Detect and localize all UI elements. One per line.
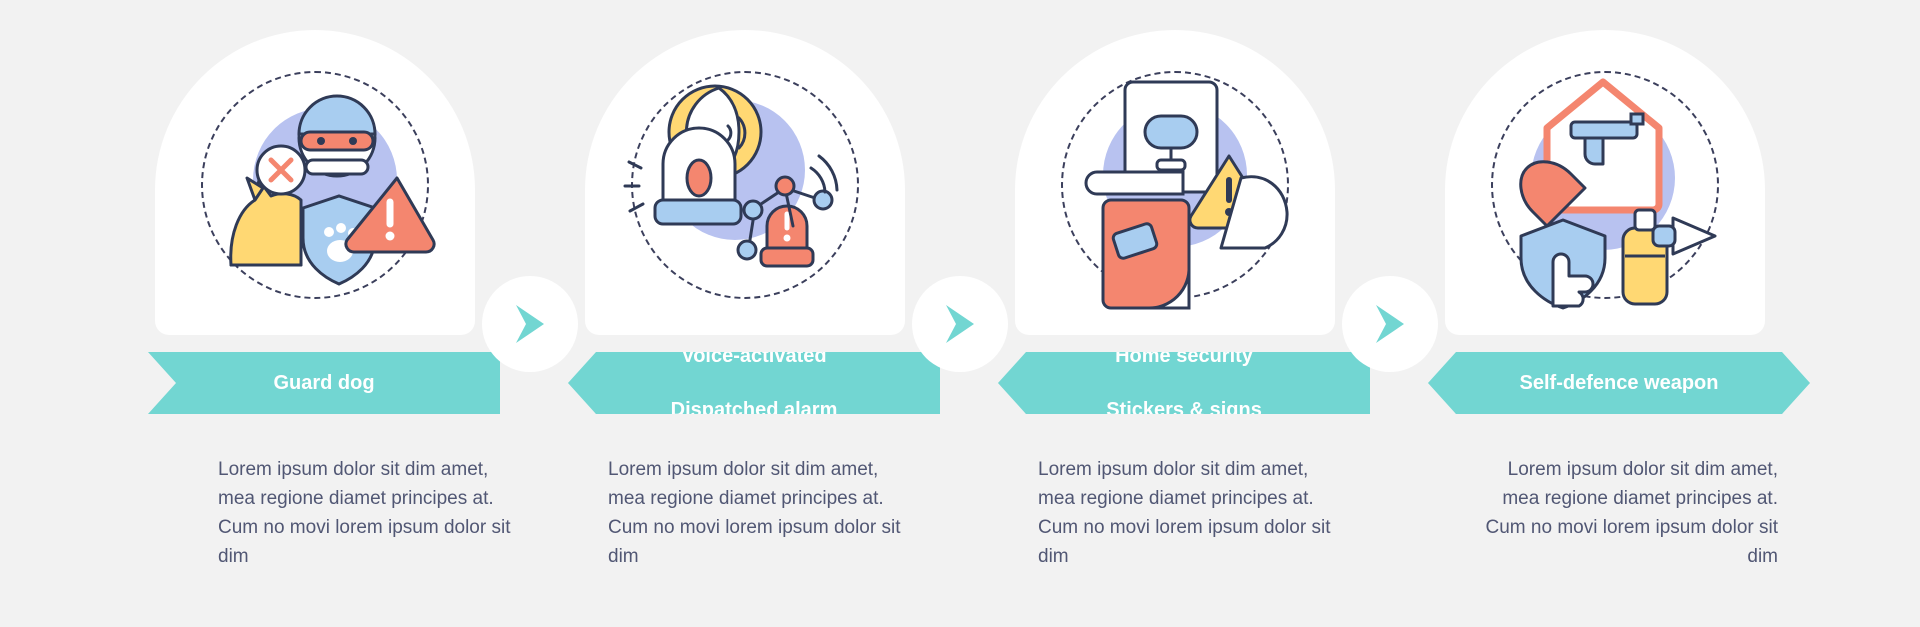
guard-dog-illustration xyxy=(185,60,445,310)
step-title-line-1: Voice-activated xyxy=(649,343,860,370)
step-title-line-2: Stickers & signs xyxy=(1084,397,1284,424)
step-label-guard-dog[interactable]: Guard dog xyxy=(148,352,500,414)
step-title: Guard dog xyxy=(251,370,396,397)
step-title-line-1: Home security xyxy=(1084,343,1284,370)
infographic-canvas: Guard dog Lorem ipsum dolor sit dim amet… xyxy=(0,0,1920,627)
step-label-self-defence-weapon[interactable]: Self-defence weapon xyxy=(1428,352,1810,414)
self-defence-weapon-icon xyxy=(1475,60,1735,310)
step-description-voice-activated-alarm: Lorem ipsum dolor sit dim amet, mea regi… xyxy=(608,455,908,571)
step-title: Home security Stickers & signs xyxy=(1062,343,1306,424)
guard-dog-icon xyxy=(185,60,445,310)
security-sticker-illustration xyxy=(1045,60,1305,310)
step-description-guard-dog: Lorem ipsum dolor sit dim amet, mea regi… xyxy=(218,455,518,571)
voice-alarm-illustration xyxy=(615,60,875,310)
step-guard-dog[interactable]: Guard dog Lorem ipsum dolor sit dim amet… xyxy=(100,0,530,627)
step-description-home-security-stickers: Lorem ipsum dolor sit dim amet, mea regi… xyxy=(1038,455,1338,571)
step-description-self-defence-weapon: Lorem ipsum dolor sit dim amet, mea regi… xyxy=(1478,455,1778,571)
self-defence-weapon-illustration xyxy=(1475,60,1735,310)
voice-alarm-icon xyxy=(615,60,875,310)
security-sticker-icon xyxy=(1045,60,1305,310)
step-title: Voice-activated Dispatched alarm xyxy=(627,343,882,424)
step-label-home-security-stickers[interactable]: Home security Stickers & signs xyxy=(998,352,1370,414)
step-self-defence-weapon[interactable]: Self-defence weapon Lorem ipsum dolor si… xyxy=(1390,0,1820,627)
step-label-voice-activated-alarm[interactable]: Voice-activated Dispatched alarm xyxy=(568,352,940,414)
step-title: Self-defence weapon xyxy=(1498,370,1741,397)
step-title-line-2: Dispatched alarm xyxy=(649,397,860,424)
step-home-security-stickers[interactable]: Home security Stickers & signs Lorem ips… xyxy=(960,0,1390,627)
step-voice-activated-alarm[interactable]: Voice-activated Dispatched alarm Lorem i… xyxy=(530,0,960,627)
